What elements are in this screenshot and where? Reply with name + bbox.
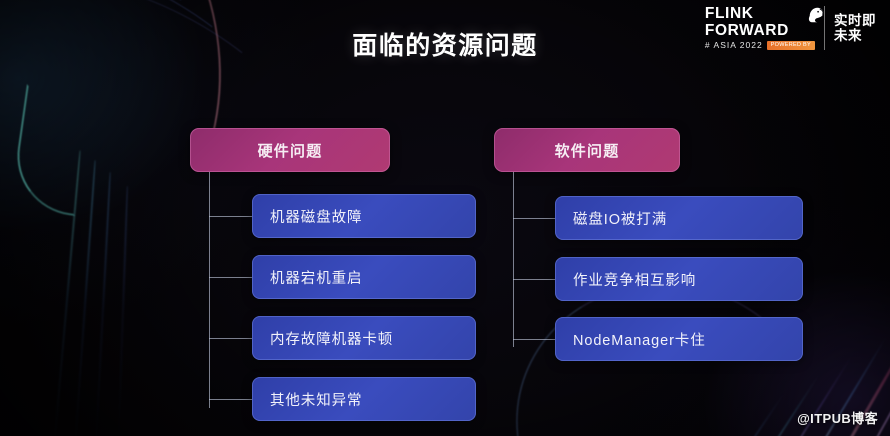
slide-canvas: 面临的资源问题 FLINK FORWARD # ASIA 2022 POWERE… [0, 0, 890, 436]
ribbon-hook [10, 84, 93, 216]
connector-branch-software-1 [513, 218, 555, 219]
tree-leaf-hardware-2[interactable]: 机器宕机重启 [252, 255, 476, 299]
logo-tagline-line2: 未来 [834, 28, 876, 43]
logo-subline: # ASIA 2022 POWERED BY [705, 41, 815, 50]
tree-leaf-hardware-4[interactable]: 其他未知异常 [252, 377, 476, 421]
ribbon-tail-4 [118, 186, 128, 436]
connector-vertical-software [513, 172, 514, 347]
connector-branch-hardware-1 [209, 216, 252, 217]
logo-line-forward: FORWARD [705, 23, 789, 39]
squirrel-icon [806, 5, 828, 25]
logo-asia-label: # ASIA 2022 [705, 41, 763, 50]
connector-branch-hardware-2 [209, 277, 252, 278]
tree-leaf-hardware-3[interactable]: 内存故障机器卡顿 [252, 316, 476, 360]
corner-streak-7 [694, 393, 785, 436]
tree-leaf-software-2[interactable]: 作业竞争相互影响 [555, 257, 803, 301]
tree-header-software[interactable]: 软件问题 [494, 128, 680, 172]
connector-branch-hardware-3 [209, 338, 252, 339]
logo-wordmark: FLINK FORWARD # ASIA 2022 POWERED BY [705, 6, 815, 50]
ribbon-1 [0, 0, 288, 436]
tree-leaf-hardware-1[interactable]: 机器磁盘故障 [252, 194, 476, 238]
logo-line-flink: FLINK [705, 6, 754, 22]
tree-leaf-software-3[interactable]: NodeManager卡住 [555, 317, 803, 361]
logo-tagline-line1: 实时即 [834, 13, 876, 28]
ribbon-tail-1 [53, 151, 81, 436]
watermark: @ITPUB博客 [797, 408, 878, 427]
ribbon-tail-2 [74, 160, 96, 436]
logo-tagline: 实时即 未来 [834, 13, 876, 43]
logo-badge: POWERED BY [767, 41, 815, 50]
connector-branch-software-2 [513, 279, 555, 280]
tree-header-hardware[interactable]: 硬件问题 [190, 128, 390, 172]
ribbon-tail-3 [95, 172, 111, 436]
connector-branch-software-3 [513, 339, 555, 340]
tree-leaf-software-1[interactable]: 磁盘IO被打满 [555, 196, 803, 240]
connector-branch-hardware-4 [209, 399, 252, 400]
connector-vertical-hardware [209, 172, 210, 408]
flink-forward-logo: FLINK FORWARD # ASIA 2022 POWERED BY 实时即… [705, 6, 876, 50]
